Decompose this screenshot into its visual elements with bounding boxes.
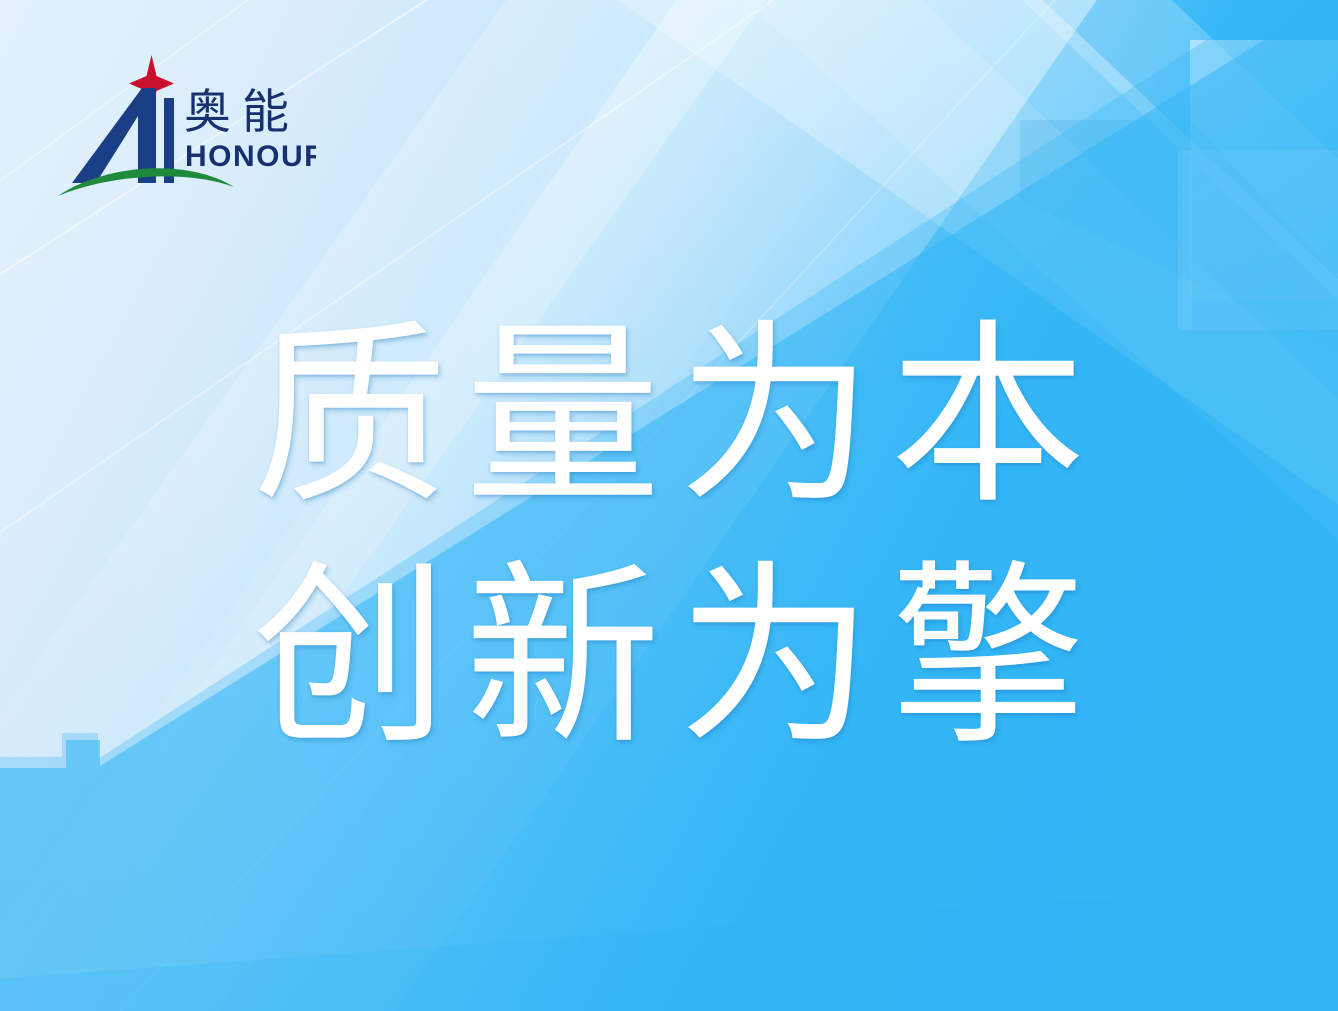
logo-letter-a bbox=[72, 88, 156, 183]
poster-canvas: 奥能 HONOUR 质量为本 创新为擎 bbox=[0, 0, 1338, 1011]
headline: 质量为本 创新为擎 bbox=[0, 296, 1338, 778]
honour-logo[interactable]: 奥能 HONOUR bbox=[56, 52, 316, 200]
headline-line-2: 创新为擎 bbox=[0, 537, 1338, 778]
bg-bottom-tone bbox=[0, 880, 1338, 1011]
logo-latin-name: HONOUR bbox=[185, 140, 316, 173]
headline-line-1: 质量为本 bbox=[0, 296, 1338, 537]
bg-ur-band-3 bbox=[980, 0, 1338, 320]
logo-chinese-name: 奥能 bbox=[184, 85, 300, 140]
bg-panel-right bbox=[1190, 40, 1338, 300]
